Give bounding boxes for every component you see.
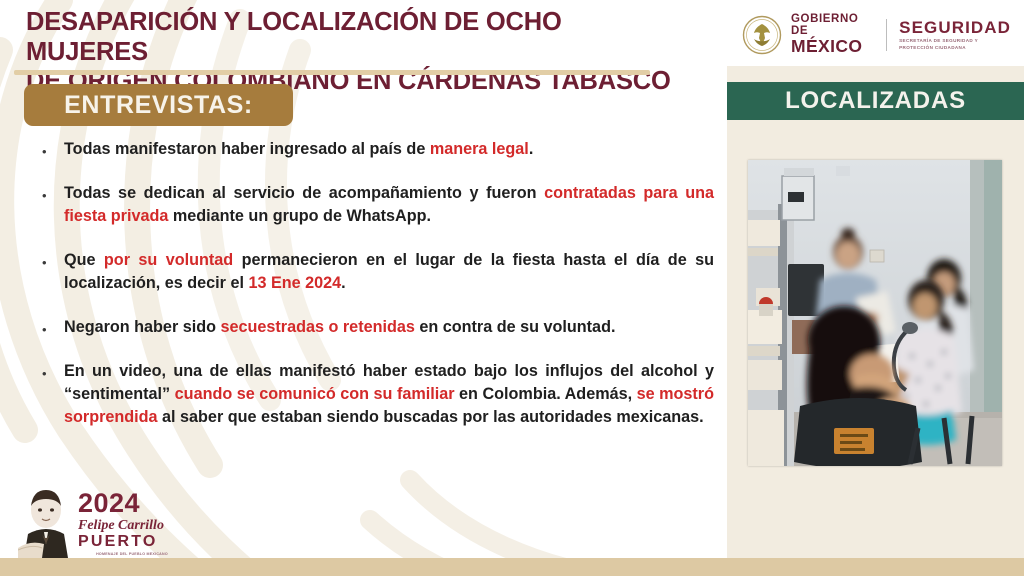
gobierno-line-2: MÉXICO: [791, 38, 874, 56]
highlighted-phrase: manera legal: [430, 140, 529, 158]
bullet-marker-icon: •: [42, 360, 64, 380]
title-divider-rule: [14, 70, 650, 75]
lockup-divider: [886, 19, 887, 51]
bullet-list: •Todas manifestaron haber ingresado al p…: [42, 138, 714, 429]
bullet-text-run: Todas se dedican al servicio de acompaña…: [64, 184, 544, 202]
dependency-name: SEGURIDAD: [899, 19, 1012, 36]
bullet-text-run: mediante un grupo de WhatsApp.: [168, 207, 431, 225]
localizadas-banner: LOCALIZADAS: [727, 82, 1024, 120]
bullet-text: Todas se dedican al servicio de acompaña…: [64, 182, 714, 228]
bullet-marker-icon: •: [42, 138, 64, 158]
section-heading-entrevistas: ENTREVISTAS:: [24, 84, 293, 126]
dependency-wordmark: SEGURIDAD SECRETARÍA DE SEGURIDAD Y PROT…: [899, 19, 1012, 50]
highlighted-phrase: 13 Ene 2024: [248, 274, 341, 292]
gobierno-de-mexico-lockup: GOBIERNO DE MÉXICO SEGURIDAD SECRETARÍA …: [742, 12, 1012, 58]
bullet-marker-icon: •: [42, 249, 64, 269]
footer-bar: [0, 558, 1024, 576]
bullet-text-run: .: [529, 140, 534, 158]
dependency-subtitle: SECRETARÍA DE SEGURIDAD Y PROTECCIÓN CIU…: [899, 38, 1012, 50]
bullet-text-run: al saber que estaban siendo buscadas por…: [158, 408, 704, 426]
bullet-text: Todas manifestaron haber ingresado al pa…: [64, 138, 714, 161]
commemorative-logo-2024: 2024 Felipe Carrillo PUERTO HOMENAJE DEL…: [18, 486, 208, 560]
commemorative-name: Felipe Carrillo: [78, 518, 186, 533]
bullet-text: Que por su voluntad permanecieron en el …: [64, 249, 714, 295]
highlighted-phrase: secuestradas o retenidas: [221, 318, 415, 336]
slide-title-line-1: DESAPARICIÓN Y LOCALIZACIÓN DE OCHO MUJE…: [26, 8, 562, 66]
bullet-text-run: en Colombia. Además,: [455, 385, 637, 403]
bullet-negaron-secuestro: •Negaron haber sido secuestradas o reten…: [42, 316, 714, 339]
gobierno-wordmark: GOBIERNO DE MÉXICO: [791, 14, 874, 56]
bullet-text-run: .: [341, 274, 346, 292]
bullet-text-run: en contra de su voluntad.: [415, 318, 616, 336]
presentation-slide: DESAPARICIÓN Y LOCALIZACIÓN DE OCHO MUJE…: [0, 0, 1024, 576]
highlighted-phrase: cuando se comunicó con su familiar: [175, 385, 455, 403]
commemorative-surname: PUERTO: [78, 534, 186, 550]
bullet-video-alcohol: •En un video, una de ellas manifestó hab…: [42, 360, 714, 429]
interview-photo: [748, 160, 1002, 466]
felipe-carrillo-puerto-portrait-icon: [18, 486, 74, 558]
bullet-por-su-voluntad: •Que por su voluntad permanecieron en el…: [42, 249, 714, 295]
bullet-text: En un video, una de ellas manifestó habe…: [64, 360, 714, 429]
bullet-fiesta-privada: •Todas se dedican al servicio de acompañ…: [42, 182, 714, 228]
mexican-eagle-seal-icon: [742, 15, 782, 55]
bullet-text-run: Negaron haber sido: [64, 318, 221, 336]
bullet-marker-icon: •: [42, 316, 64, 336]
bullet-text: Negaron haber sido secuestradas o reteni…: [64, 316, 714, 339]
highlighted-phrase: por su voluntad: [104, 251, 233, 269]
localizadas-banner-label: LOCALIZADAS: [785, 87, 966, 115]
section-heading-label: ENTREVISTAS:: [64, 91, 253, 120]
bullet-text-run: Todas manifestaron haber ingresado al pa…: [64, 140, 430, 158]
gobierno-line-1: GOBIERNO DE: [791, 14, 874, 37]
commemorative-wordmark: 2024 Felipe Carrillo PUERTO HOMENAJE DEL…: [78, 486, 186, 569]
bullet-text-run: Que: [64, 251, 104, 269]
bullet-marker-icon: •: [42, 182, 64, 202]
bullet-ingreso-legal: •Todas manifestaron haber ingresado al p…: [42, 138, 714, 161]
commemorative-year: 2024: [78, 490, 186, 517]
